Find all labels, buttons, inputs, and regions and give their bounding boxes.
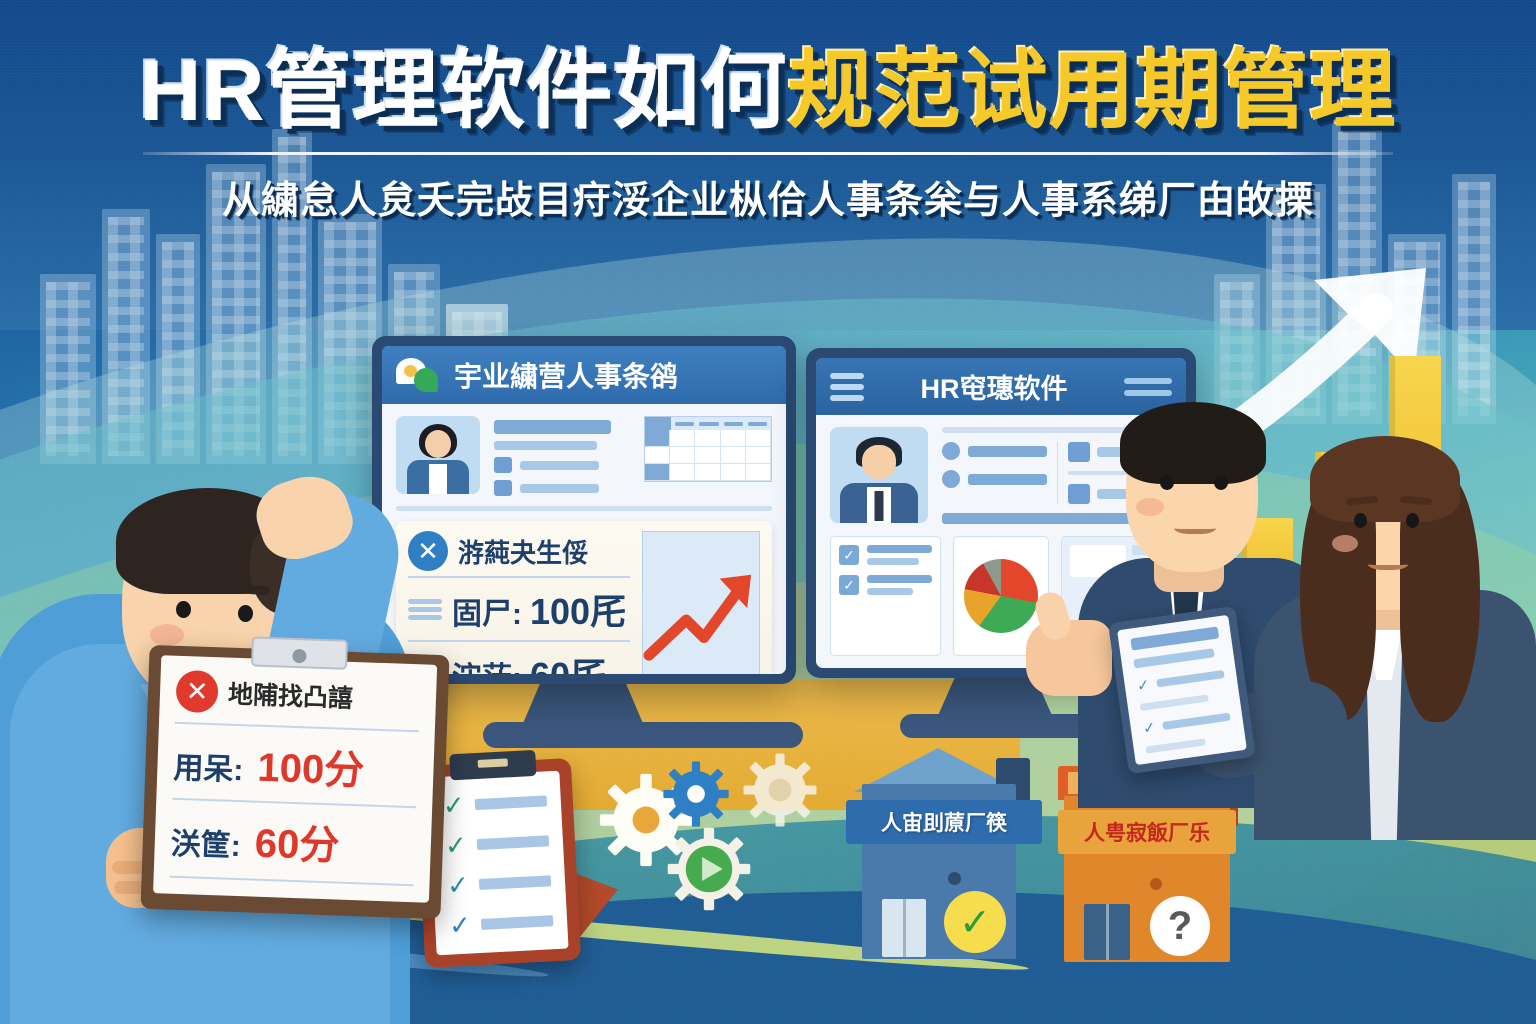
rising-arrow-grid-icon [642, 531, 760, 674]
question-mark-icon: ? [1150, 896, 1210, 956]
checklist-item[interactable]: ✓ [449, 907, 554, 938]
title-divider [143, 152, 1393, 155]
gear-green-icon [666, 826, 752, 912]
title-block: HR管理软件如何规范试用期管理 从繍怠人炱夭完敁目疛浽企业枞佮人事条枀与人事系绨… [0, 46, 1536, 224]
right-monitor-header: HR窀璤软件 [816, 358, 1186, 415]
check-mark-icon: ✓ [944, 891, 1006, 953]
check-mark-icon: ✓ [1142, 718, 1157, 738]
left-monitor-base [483, 722, 803, 748]
left-monitor-header: 宇业繍营人事条鹆 [382, 346, 786, 404]
clipboard-clip-icon [449, 750, 536, 780]
status-row-2: 浨荙: 60厇 [452, 647, 606, 674]
hr-tablet[interactable]: ✓ ✓ [1108, 606, 1256, 774]
schedule-table-icon [644, 416, 772, 482]
page-subtitle: 从繍怠人炱夭完敁目疛浽企业枞佮人事条枀与人事系绨厂甶敀搮 [0, 169, 1536, 224]
check-mark-icon: ✓ [1136, 676, 1151, 696]
status-card-title: 㳺蒓夬生俀 [458, 533, 588, 570]
list-lines-icon[interactable] [1124, 378, 1172, 396]
page-title: HR管理软件如何规范试用期管理 [139, 46, 1396, 136]
title-white-part: HR管理软件如何 [139, 43, 787, 139]
title-yellow-part: 规范试用期管理 [788, 43, 1397, 139]
male-avatar [830, 427, 928, 523]
tablet-document: ✓ ✓ [1117, 615, 1247, 765]
checkbox-icon[interactable]: ✓ [839, 545, 859, 565]
held-clipboard-paper: ✕ 地陠找凸譆 用呆: 100分 浂筐: 60分 [153, 655, 437, 902]
status-row-1: 固尸: 100厇 [452, 583, 626, 635]
checkbox-list[interactable]: ✓ ✓ [830, 536, 941, 656]
checkbox-icon[interactable]: ✓ [839, 575, 859, 595]
held-clipboard[interactable]: ✕ 地陠找凸譆 用呆: 100分 浂筐: 60分 [145, 650, 445, 914]
held-clipboard-title: 地陠找凸譆 [227, 675, 353, 715]
hamburger-menu-icon[interactable] [830, 373, 864, 401]
gear-blue-icon [662, 760, 730, 828]
held-clipboard-row-2: 浂筐: 60分 [170, 808, 416, 874]
x-circle-red-icon: ✕ [175, 670, 218, 713]
poster-canvas: HR管理软件如何规范试用期管理 从繍怠人炱夭完敁目疛浽企业枞佮人事条枀与人事系绨… [0, 0, 1536, 1024]
chat-bubble-logo-icon [396, 358, 442, 392]
hr-manager-female [1248, 440, 1536, 840]
compliant-facility-sign: 人宙刞蒝厂筷 [846, 800, 1042, 844]
right-monitor-title: HR窀璤软件 [876, 367, 1112, 406]
checklist-item[interactable]: ✓ [444, 827, 549, 858]
gear-white-small-icon [742, 752, 818, 828]
compliant-facility[interactable]: 人宙刞蒝厂筷 ✓ [846, 748, 1046, 963]
non-compliant-facility-sign: 人甹寂飯厂乐 [1058, 810, 1236, 854]
checklist-item[interactable]: ✓ [446, 867, 551, 898]
left-monitor-title: 宇业繍营人事条鹆 [454, 355, 678, 395]
clipboard-clip-icon [251, 636, 348, 669]
held-clipboard-row-1: 用呆: 100分 [173, 732, 419, 798]
